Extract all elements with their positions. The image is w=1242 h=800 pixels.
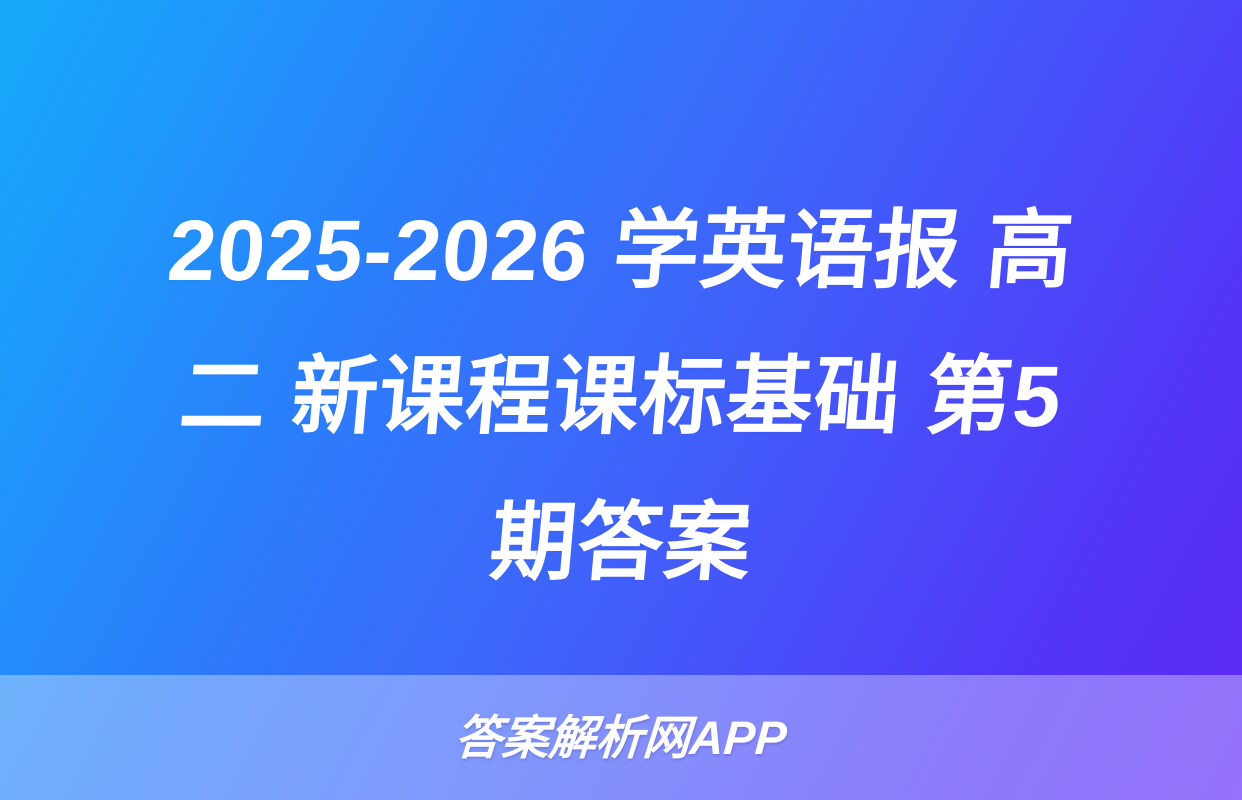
footer-brand-bar: 答案解析网APP — [0, 675, 1242, 800]
page-title-line-2: 二 新课程课标基础 第5 — [50, 324, 1193, 470]
page-title-line-3: 期答案 — [50, 470, 1193, 616]
page-title: 2025-2026 学英语报 高 二 新课程课标基础 第5 期答案 — [0, 178, 1242, 616]
poster-canvas: 2025-2026 学英语报 高 二 新课程课标基础 第5 期答案 答案解析网A… — [0, 0, 1242, 800]
footer-brand-label: 答案解析网APP — [454, 714, 789, 761]
page-title-line-1: 2025-2026 学英语报 高 — [50, 178, 1193, 324]
